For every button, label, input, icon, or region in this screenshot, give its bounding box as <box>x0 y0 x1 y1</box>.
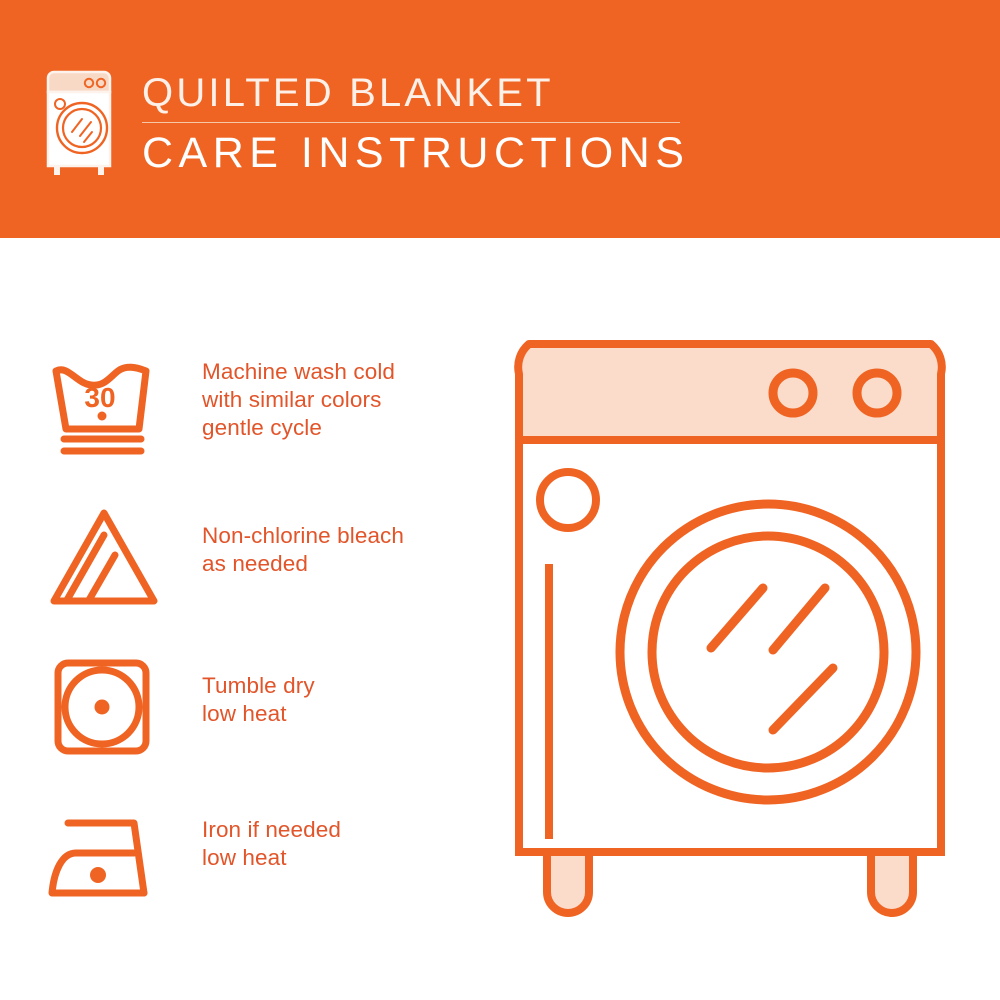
care-item-machine-wash: 30 Machine wash cold with similar colors… <box>46 330 486 480</box>
care-item-bleach-text: Non-chlorine bleach as needed <box>202 522 492 578</box>
care-text-line: Iron if needed <box>202 816 492 844</box>
care-text-line: with similar colors <box>202 386 492 414</box>
care-text-line: Non-chlorine bleach <box>202 522 492 550</box>
washing-machine-logo-icon <box>46 66 112 178</box>
care-instruction-list: 30 Machine wash cold with similar colors… <box>46 330 486 930</box>
non-chlorine-bleach-triangle-icon <box>46 500 166 620</box>
iron-low-heat-icon <box>46 804 166 924</box>
care-item-bleach: Non-chlorine bleach as needed <box>46 480 486 630</box>
tumble-dry-low-heat-icon <box>46 648 166 768</box>
care-item-iron: Iron if needed low heat <box>46 780 486 930</box>
header-banner: QUILTED BLANKET CARE INSTRUCTIONS <box>0 0 1000 238</box>
care-item-machine-wash-text: Machine wash cold with similar colors ge… <box>202 358 492 442</box>
care-text-line: Machine wash cold <box>202 358 492 386</box>
page-title-primary: QUILTED BLANKET <box>142 70 702 116</box>
care-instructions-infographic: QUILTED BLANKET CARE INSTRUCTIONS 30 <box>0 0 1000 1000</box>
leg-right <box>871 852 913 913</box>
machine-wash-30-gentle-icon: 30 <box>46 348 166 468</box>
care-item-tumble-dry-text: Tumble dry low heat <box>202 672 492 728</box>
care-item-iron-text: Iron if needed low heat <box>202 816 492 872</box>
washing-machine-illustration <box>495 330 965 940</box>
page-title-secondary: CARE INSTRUCTIONS <box>142 127 702 179</box>
control-panel <box>518 344 942 440</box>
leg-left <box>547 852 589 913</box>
care-text-line: Tumble dry <box>202 672 492 700</box>
machine-body <box>519 440 941 852</box>
care-text-line: gentle cycle <box>202 414 492 442</box>
header-title-block: QUILTED BLANKET CARE INSTRUCTIONS <box>142 70 702 179</box>
care-text-line: low heat <box>202 844 492 872</box>
care-item-tumble-dry: Tumble dry low heat <box>46 630 486 780</box>
care-text-line: low heat <box>202 700 492 728</box>
wash-temperature-value: 30 <box>84 382 115 413</box>
care-text-line: as needed <box>202 550 492 578</box>
title-divider <box>142 122 680 123</box>
